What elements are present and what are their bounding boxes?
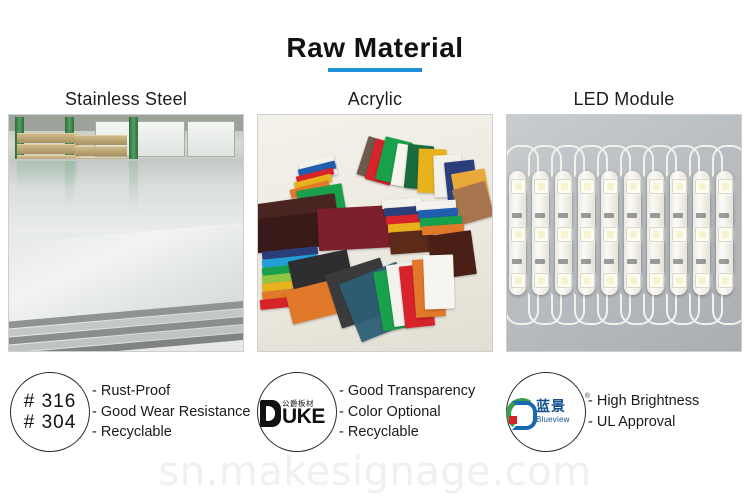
feature-item: - Good Transparency	[339, 381, 475, 402]
column-heading-led-module: LED Module	[506, 84, 742, 114]
column-acrylic: Acrylic	[257, 84, 493, 352]
feature-list-acrylic: - Good Transparency - Color Optional - R…	[333, 381, 475, 443]
site-watermark: sn.makesignage.com	[0, 449, 750, 495]
feature-item: - Color Optional	[339, 402, 475, 423]
badge-grade-316: # 316	[24, 391, 77, 412]
feature-led-module: 蓝景 Blueview ® - High Brightness - UL App…	[506, 372, 742, 452]
photo-stainless-steel	[8, 114, 244, 352]
page-title-block: Raw Material	[0, 34, 750, 72]
led-module-unit	[555, 171, 572, 295]
feature-item: - Recyclable	[339, 422, 475, 443]
led-module-unit	[509, 171, 526, 295]
feature-list-led-module: - High Brightness - UL Approval	[582, 391, 699, 432]
blueview-swoosh-icon	[505, 397, 535, 427]
photo-acrylic	[257, 114, 493, 352]
led-module-unit	[647, 171, 664, 295]
led-module-unit	[578, 171, 595, 295]
led-wire	[712, 293, 742, 325]
led-wire	[712, 145, 742, 177]
column-heading-acrylic: Acrylic	[257, 84, 493, 114]
feature-stainless-steel: # 316 # 304 - Rust-Proof - Good Wear Res…	[8, 372, 244, 452]
feature-rows: # 316 # 304 - Rust-Proof - Good Wear Res…	[8, 372, 742, 452]
led-module-unit	[693, 171, 710, 295]
led-module-unit	[670, 171, 687, 295]
badge-duke-logo: 公爵板材 UKE	[257, 372, 337, 452]
page-title: Raw Material	[0, 34, 750, 62]
duke-logo: 公爵板材 UKE	[260, 397, 334, 427]
blueview-wordmark: Blueview	[536, 416, 570, 425]
feature-item: - High Brightness	[588, 391, 699, 412]
feature-item: - Good Wear Resistance	[92, 402, 251, 423]
feature-item: - Recyclable	[92, 422, 251, 443]
badge-steel-grades: # 316 # 304	[10, 372, 90, 452]
duke-wordmark: UKE	[282, 408, 325, 427]
led-module-unit	[624, 171, 641, 295]
feature-acrylic: 公爵板材 UKE - Good Transparency - Color Opt…	[257, 372, 493, 452]
feature-list-stainless-steel: - Rust-Proof - Good Wear Resistance - Re…	[86, 381, 251, 443]
material-columns: Stainless Steel	[8, 84, 742, 352]
led-module-unit	[601, 171, 618, 295]
blueview-logo: 蓝景 Blueview ®	[505, 393, 587, 431]
badge-grade-304: # 304	[24, 412, 77, 433]
badge-blueview-logo: 蓝景 Blueview ®	[506, 372, 586, 452]
column-stainless-steel: Stainless Steel	[8, 84, 244, 352]
column-heading-stainless-steel: Stainless Steel	[8, 84, 244, 114]
title-underline-rule	[328, 68, 422, 72]
duke-d-letter-icon	[260, 400, 281, 427]
feature-item: - UL Approval	[588, 412, 699, 433]
led-module-unit	[532, 171, 549, 295]
led-module-unit	[716, 171, 733, 295]
blueview-chinese-text: 蓝景	[536, 400, 570, 414]
photo-led-module	[506, 114, 742, 352]
feature-item: - Rust-Proof	[92, 381, 251, 402]
column-led-module: LED Module	[506, 84, 742, 352]
